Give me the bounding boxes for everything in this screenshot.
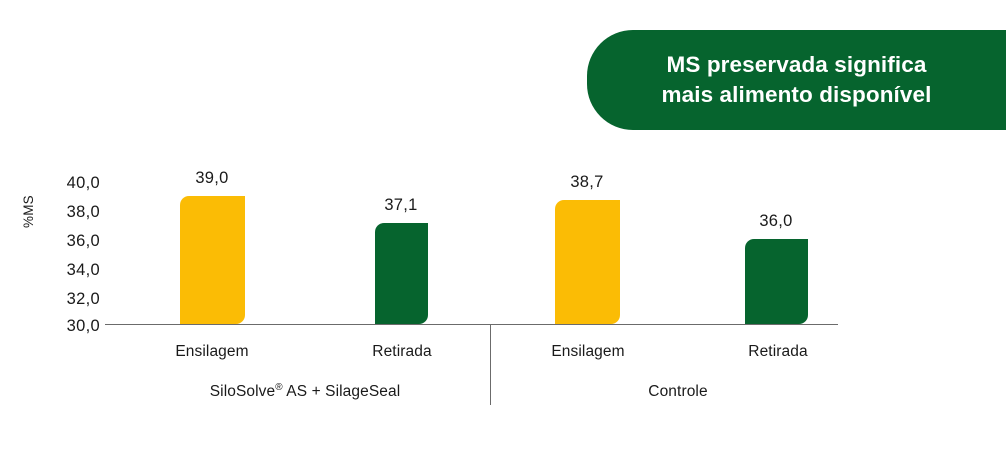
y-tick-label-36: 36,0 xyxy=(44,233,100,250)
y-tick-label-34: 34,0 xyxy=(44,262,100,279)
y-tick-label-38: 38,0 xyxy=(44,204,100,221)
y-axis-title: %MS xyxy=(21,195,36,228)
x-axis-baseline xyxy=(105,324,838,325)
bar-value-label-retirada-silosolve: 37,1 xyxy=(351,197,451,214)
bar-value-label-ensilagem-controle: 38,7 xyxy=(537,174,637,191)
bar-retirada-controle[interactable] xyxy=(745,239,808,324)
group-label-controle-text: Controle xyxy=(648,383,707,400)
y-tick-label-32: 32,0 xyxy=(44,291,100,308)
group-label-controle: Controle xyxy=(518,383,838,401)
x-category-label-retirada-controle: Retirada xyxy=(698,343,858,361)
bar-ensilagem-controle[interactable] xyxy=(555,200,620,324)
x-category-label-ensilagem-silosolve: Ensilagem xyxy=(132,343,292,361)
y-axis-tick-labels: 40,0 38,0 36,0 34,0 32,0 30,0 xyxy=(44,0,100,455)
y-tick-label-30: 30,0 xyxy=(44,318,100,335)
x-category-label-ensilagem-controle: Ensilagem xyxy=(508,343,668,361)
group-label-silosolve: SiloSolve® AS + SilageSeal xyxy=(145,383,465,401)
bar-value-label-ensilagem-silosolve: 39,0 xyxy=(162,170,262,187)
registered-trademark-icon: ® xyxy=(275,382,282,393)
bar-retirada-silosolve[interactable] xyxy=(375,223,428,324)
bar-chart: %MS 40,0 38,0 36,0 34,0 32,0 30,0 39,0 3… xyxy=(0,0,1006,455)
bar-value-label-retirada-controle: 36,0 xyxy=(726,213,826,230)
group-divider-line xyxy=(490,324,491,405)
x-category-label-retirada-silosolve: Retirada xyxy=(322,343,482,361)
group-label-silosolve-text: SiloSolve xyxy=(210,383,276,400)
bar-ensilagem-silosolve[interactable] xyxy=(180,196,245,324)
y-tick-label-40: 40,0 xyxy=(44,175,100,192)
group-label-silosolve-suffix: AS + SilageSeal xyxy=(283,383,401,400)
